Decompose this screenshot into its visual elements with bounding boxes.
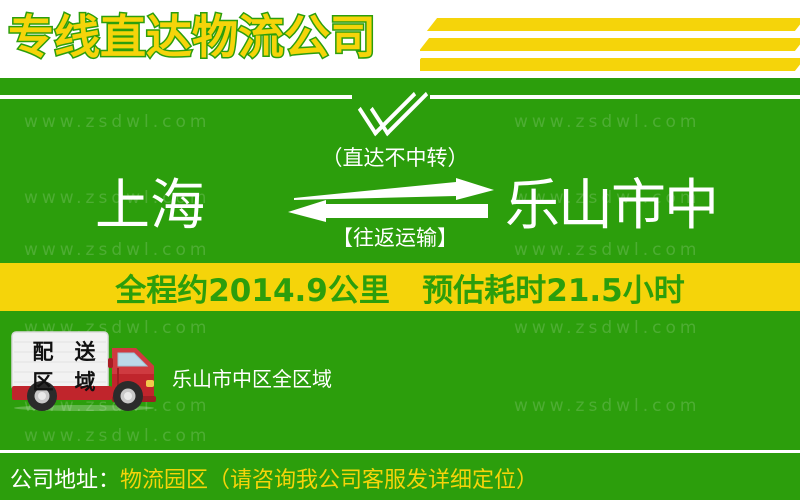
route-note-bottom: 【往返运输】 xyxy=(295,222,495,252)
watermark-text: www.zsdwl.com xyxy=(24,426,210,446)
duration-text: 预估耗时21.5小时 xyxy=(422,265,685,310)
origin-city: 上海 xyxy=(95,174,205,236)
destination-city: 乐山市中 xyxy=(505,174,717,236)
header-stripe-3 xyxy=(411,58,800,71)
trip-info-band: 全程约2014.9公里 预估耗时21.5小时 xyxy=(0,263,800,311)
route-note-top: （直达不中转） xyxy=(295,142,495,172)
poster-body: www.zsdwl.comwww.zsdwl.comwww.zsdwl.comw… xyxy=(0,78,800,500)
distance-text: 全程约2014.9公里 xyxy=(115,265,390,310)
address-value: 物流园区（请咨询我公司客服发详细定位） xyxy=(120,468,538,493)
logistics-route-poster: 专线直达物流公司 www.zsdwl.comwww.zsdwl.comwww.z… xyxy=(0,0,800,500)
delivery-area-text: 乐山市中区全区域 xyxy=(172,363,332,392)
page-title: 专线直达物流公司 xyxy=(8,8,376,66)
header-stripe-2 xyxy=(419,38,800,51)
bidirectional-arrow-icon xyxy=(288,178,494,222)
watermark-text: www.zsdwl.com xyxy=(24,240,210,260)
watermark-text: www.zsdwl.com xyxy=(514,396,700,416)
delivery-truck-icon xyxy=(8,330,160,412)
header-band: 专线直达物流公司 xyxy=(0,0,800,78)
footer-divider xyxy=(0,450,800,453)
address-label: 公司地址： xyxy=(10,468,120,493)
watermark-text: www.zsdwl.com xyxy=(514,318,700,338)
watermark-text: www.zsdwl.com xyxy=(514,112,700,132)
watermark-text: www.zsdwl.com xyxy=(514,240,700,260)
info-spacer xyxy=(390,269,422,305)
watermark-text: www.zsdwl.com xyxy=(24,112,210,132)
header-stripe-1 xyxy=(427,18,800,31)
company-address: 公司地址：物流园区（请咨询我公司客服发详细定位） xyxy=(10,462,538,494)
